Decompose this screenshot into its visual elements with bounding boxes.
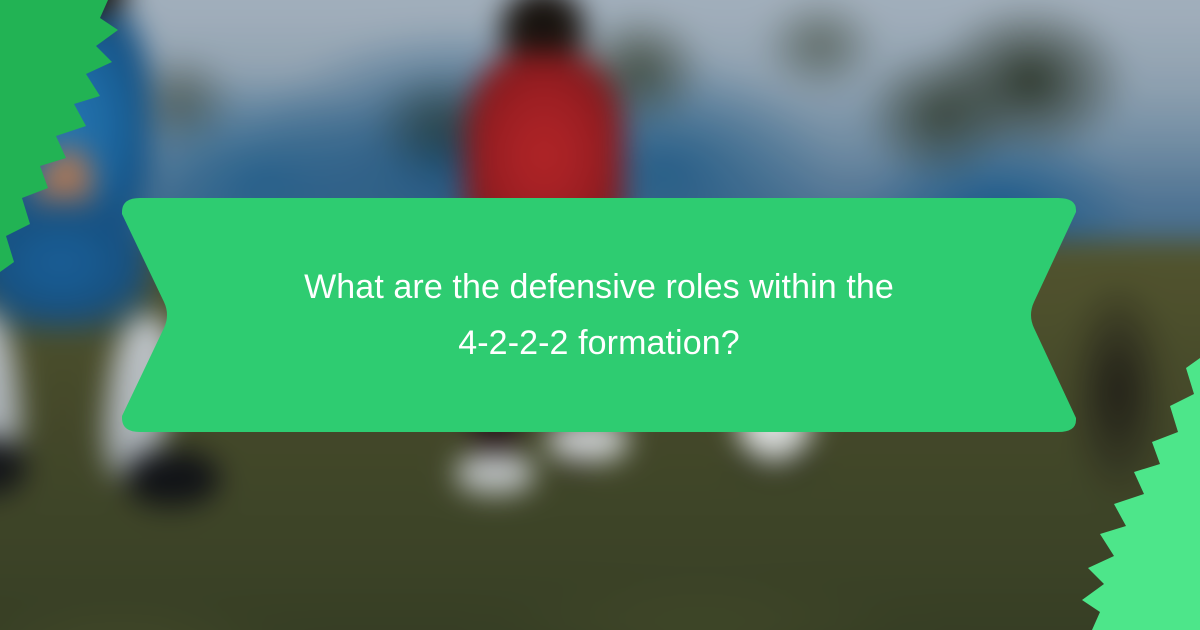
bottom-right-corner-shape	[1082, 358, 1200, 630]
question-text-line-1: What are the defensive roles within the	[304, 263, 894, 311]
question-banner-text-block: What are the defensive roles within the …	[108, 198, 1090, 432]
question-text-line-2: 4-2-2-2 formation?	[458, 319, 740, 367]
poster-canvas: What are the defensive roles within the …	[0, 0, 1200, 630]
top-left-corner-shape	[0, 0, 118, 272]
question-banner: What are the defensive roles within the …	[108, 198, 1090, 432]
